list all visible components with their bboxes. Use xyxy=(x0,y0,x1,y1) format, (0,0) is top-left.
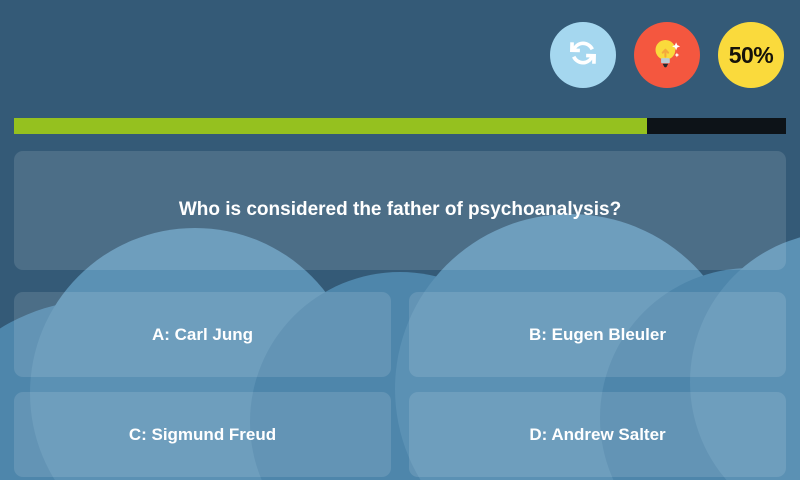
answer-label: A: Carl Jung xyxy=(152,324,253,345)
fifty-fifty-label: 50% xyxy=(729,44,774,67)
lightbulb-icon xyxy=(648,34,686,77)
answer-grid: A: Carl Jung B: Eugen Bleuler C: Sigmund… xyxy=(14,292,786,477)
answer-label: B: Eugen Bleuler xyxy=(529,324,666,345)
progress-bar-fill xyxy=(14,118,647,134)
refresh-question-button[interactable] xyxy=(550,22,616,88)
answer-option-c[interactable]: C: Sigmund Freud xyxy=(14,392,391,477)
hint-button[interactable] xyxy=(634,22,700,88)
progress-bar xyxy=(14,118,786,134)
fifty-fifty-button[interactable]: 50% xyxy=(718,22,784,88)
answer-option-b[interactable]: B: Eugen Bleuler xyxy=(409,292,786,377)
answer-label: C: Sigmund Freud xyxy=(129,424,276,445)
question-text: Who is considered the father of psychoan… xyxy=(179,198,621,223)
answer-option-a[interactable]: A: Carl Jung xyxy=(14,292,391,377)
quiz-screen: 50% Who is considered the father of psyc… xyxy=(0,0,800,480)
answer-label: D: Andrew Salter xyxy=(529,424,665,445)
refresh-icon xyxy=(564,34,602,77)
lifeline-bar: 50% xyxy=(550,22,784,88)
answer-option-d[interactable]: D: Andrew Salter xyxy=(409,392,786,477)
question-card: Who is considered the father of psychoan… xyxy=(14,151,786,270)
